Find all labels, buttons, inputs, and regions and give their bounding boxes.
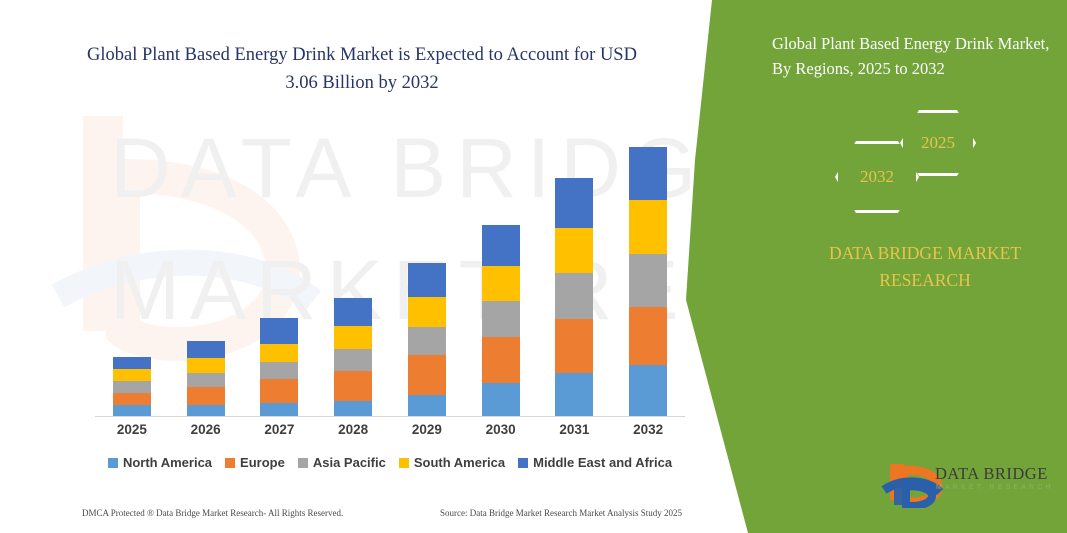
stacked-bar [260, 318, 298, 417]
x-axis-tick-2032: 2032 [611, 422, 685, 437]
bar-segment [408, 327, 446, 355]
bar-segment [482, 337, 520, 383]
legend-label: South America [414, 455, 505, 470]
bar-segment [482, 383, 520, 417]
bar-segment [555, 319, 593, 373]
bar-segment [408, 263, 446, 297]
bar-column-2027 [243, 110, 317, 417]
legend-swatch-icon [108, 458, 118, 468]
footer-copyright: DMCA Protected ® Data Bridge Market Rese… [82, 508, 343, 518]
logo-subtitle: MARKET RESEARCH [936, 484, 1054, 491]
bar-segment [555, 178, 593, 228]
bar-group [95, 110, 685, 417]
bar-segment [334, 401, 372, 417]
hexagon-2032-label: 2032 [860, 167, 894, 187]
hexagon-2025-label: 2025 [921, 133, 955, 153]
stacked-bar [187, 341, 225, 417]
bar-segment [260, 379, 298, 403]
x-axis-tick-2025: 2025 [95, 422, 169, 437]
bar-column-2031 [538, 110, 612, 417]
bar-segment [629, 147, 667, 200]
stacked-bar [408, 263, 446, 417]
bar-column-2029 [390, 110, 464, 417]
bar-segment [408, 395, 446, 417]
x-axis-tick-2029: 2029 [390, 422, 464, 437]
bar-segment [555, 228, 593, 273]
legend-label: Europe [240, 455, 285, 470]
x-axis-labels: 20252026202720282029203020312032 [95, 422, 685, 437]
x-axis-line [95, 416, 685, 417]
bar-segment [482, 266, 520, 301]
bar-segment [334, 349, 372, 371]
bar-column-2025 [95, 110, 169, 417]
stacked-bar-chart [95, 110, 685, 417]
bar-column-2030 [464, 110, 538, 417]
bar-segment [629, 365, 667, 417]
bar-segment [629, 254, 667, 307]
x-axis-tick-2030: 2030 [464, 422, 538, 437]
legend-item-middle-east-and-africa[interactable]: Middle East and Africa [518, 455, 672, 470]
legend-item-asia-pacific[interactable]: Asia Pacific [298, 455, 386, 470]
bar-segment [334, 326, 372, 349]
legend-swatch-icon [399, 458, 409, 468]
legend-item-south-america[interactable]: South America [399, 455, 505, 470]
legend-swatch-icon [518, 458, 528, 468]
bar-segment [260, 344, 298, 362]
stacked-bar [334, 298, 372, 417]
x-axis-tick-2028: 2028 [316, 422, 390, 437]
x-axis-tick-2027: 2027 [243, 422, 317, 437]
bar-segment [113, 357, 151, 369]
bar-column-2028 [316, 110, 390, 417]
bar-segment [187, 387, 225, 405]
bar-segment [260, 318, 298, 344]
bar-segment [187, 341, 225, 358]
bar-segment [555, 273, 593, 319]
bar-segment [629, 307, 667, 365]
brand-name: DATA BRIDGE MARKET RESEARCH [800, 240, 1050, 294]
bar-segment [334, 371, 372, 401]
bar-segment [187, 358, 225, 373]
legend-swatch-icon [225, 458, 235, 468]
legend-item-north-america[interactable]: North America [108, 455, 212, 470]
bar-segment [113, 381, 151, 393]
x-axis-tick-2031: 2031 [538, 422, 612, 437]
bar-segment [334, 298, 372, 326]
bar-segment [113, 393, 151, 405]
bar-segment [629, 200, 667, 254]
bar-segment [555, 373, 593, 417]
legend-swatch-icon [298, 458, 308, 468]
stacked-bar [113, 357, 151, 417]
bar-segment [260, 403, 298, 417]
legend-label: Middle East and Africa [533, 455, 672, 470]
bar-segment [187, 373, 225, 387]
bar-column-2026 [169, 110, 243, 417]
legend-item-europe[interactable]: Europe [225, 455, 285, 470]
stacked-bar [555, 178, 593, 417]
bar-segment [260, 362, 298, 379]
footer-source: Source: Data Bridge Market Research Mark… [440, 508, 682, 518]
logo-wordmark: DATA BRIDGE [935, 464, 1048, 484]
footer: DMCA Protected ® Data Bridge Market Rese… [82, 508, 682, 518]
bar-segment [482, 225, 520, 266]
bar-segment [113, 369, 151, 381]
stacked-bar [629, 147, 667, 417]
legend-label: Asia Pacific [313, 455, 386, 470]
chart-legend: North AmericaEuropeAsia PacificSouth Ame… [95, 455, 685, 470]
bar-segment [408, 355, 446, 395]
x-axis-tick-2026: 2026 [169, 422, 243, 437]
bar-column-2032 [611, 110, 685, 417]
bar-segment [482, 301, 520, 337]
infographic-canvas: DATA BRIDGE MARKET RESEARCH Global Plant… [0, 0, 1067, 533]
page-title: Global Plant Based Energy Drink Market i… [72, 42, 652, 98]
legend-label: North America [123, 455, 212, 470]
stacked-bar [482, 225, 520, 417]
bar-segment [408, 297, 446, 327]
green-panel-title: Global Plant Based Energy Drink Market, … [772, 32, 1062, 82]
